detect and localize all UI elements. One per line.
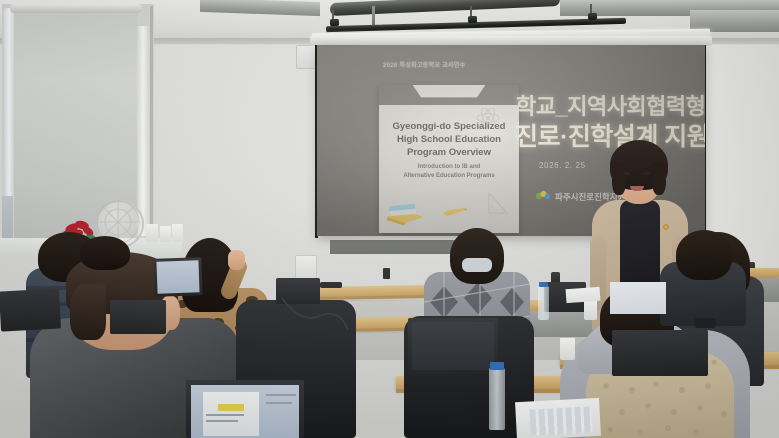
paper-cup-front-right[interactable]	[560, 338, 575, 360]
desk-cable	[280, 296, 350, 336]
blind-roller[interactable]	[10, 4, 142, 13]
stacked-cup-1	[146, 224, 158, 242]
laptop-back-left[interactable]	[0, 288, 61, 331]
attendee-argyle-hair	[450, 228, 504, 284]
track-light-head-2	[468, 16, 477, 23]
stacked-cup-2	[160, 226, 171, 242]
attendee-back-right-hair	[676, 230, 732, 280]
water-bottle-front-cap	[490, 362, 504, 370]
paper-cup-right[interactable]	[584, 300, 597, 320]
classroom-photo: 2026 특성화고등학교 교사연수 Gyeonggi-do Specialize…	[0, 0, 779, 438]
presenter-hair-side-left	[612, 163, 626, 195]
attendee-back-left-hair	[80, 236, 130, 270]
presenter-eye-left	[624, 172, 630, 175]
track-light-head-3	[588, 13, 597, 20]
desk-papers-right	[566, 287, 601, 303]
wall-outlet-1[interactable]	[383, 268, 390, 279]
water-bottle-front[interactable]	[489, 368, 505, 430]
presenter-hair-side-right	[652, 163, 666, 195]
laptop-back-left-2[interactable]	[110, 300, 166, 334]
attendee-argyle-collar	[462, 258, 492, 272]
laptop-sidebar-line-1	[266, 394, 296, 396]
keyboard-front-right[interactable]	[529, 406, 592, 435]
laptop-sidebar-line-2	[266, 402, 292, 404]
attendee-leopard-hand	[228, 250, 245, 270]
wall-thermostat	[295, 255, 317, 279]
laptop-document-line-1	[206, 414, 244, 416]
window-view-lower	[2, 196, 13, 244]
stacked-cup-3	[172, 224, 183, 242]
laptop-front-center-screen	[412, 322, 494, 370]
laptop-row2-white-screen[interactable]	[610, 282, 666, 314]
water-bottle-back-cap	[539, 282, 548, 287]
laptop-row1-left-screen	[156, 260, 199, 293]
track-light-head-1	[330, 19, 339, 26]
water-bottle-back[interactable]	[538, 286, 549, 320]
laptop-document-highlight	[218, 404, 244, 411]
laptop-front-right[interactable]	[612, 330, 708, 376]
laptop-document-line-2	[206, 420, 238, 422]
presenter-eye-right	[644, 172, 650, 175]
window-mullion	[150, 6, 153, 246]
desk-item-mouse[interactable]	[320, 282, 342, 288]
presenter-brooch	[663, 224, 669, 230]
attendee-grey-coat-hair-side	[70, 284, 106, 340]
desk-item-phone[interactable]	[694, 318, 716, 328]
